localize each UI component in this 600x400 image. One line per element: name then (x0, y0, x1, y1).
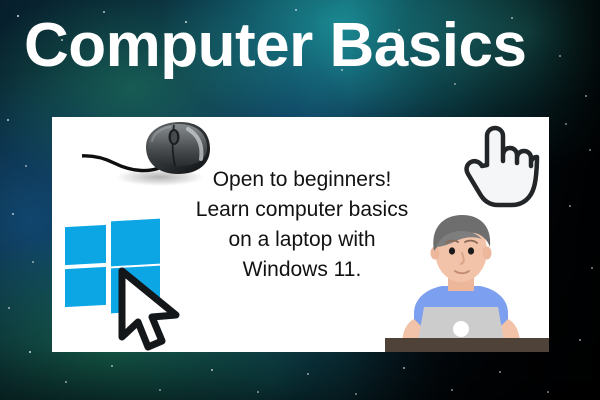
star-dot (585, 95, 587, 97)
star-dot (547, 391, 549, 393)
star-dot (499, 371, 501, 373)
star-dot (403, 367, 405, 369)
star-dot (569, 205, 571, 207)
page-title: Computer Basics (24, 14, 584, 77)
body-line-1: Open to beginners! (172, 165, 432, 195)
star-dot (454, 83, 456, 85)
content-card: Open to beginners! Learn computer basics… (52, 117, 549, 352)
poster-canvas: Computer Basics (0, 0, 600, 400)
star-dot (159, 389, 161, 391)
star-dot (579, 339, 581, 341)
star-dot (111, 365, 113, 367)
star-dot (307, 373, 309, 375)
star-dot (355, 393, 357, 395)
star-dot (12, 213, 14, 215)
hand-pointer-cursor-icon (462, 125, 540, 209)
star-dot (65, 381, 67, 383)
star-dot (451, 389, 453, 391)
star-dot (25, 165, 27, 167)
star-dot (8, 307, 10, 309)
desk-surface (385, 338, 549, 352)
star-dot (29, 351, 31, 353)
star-dot (257, 391, 259, 393)
star-dot (32, 261, 34, 263)
person-at-laptop-illustration (370, 207, 549, 352)
laptop-logo-circle (453, 321, 469, 337)
star-dot (7, 119, 9, 121)
star-dot (211, 369, 213, 371)
windows-logo-tile-bottom-left (65, 267, 106, 307)
star-dot (565, 123, 567, 125)
star-dot (589, 149, 591, 151)
arrow-cursor-icon (114, 267, 192, 352)
star-dot (591, 267, 593, 269)
star-dot (17, 15, 19, 17)
windows-logo-tile-top-left (65, 225, 106, 265)
windows-logo-tile-top-right (111, 219, 160, 267)
